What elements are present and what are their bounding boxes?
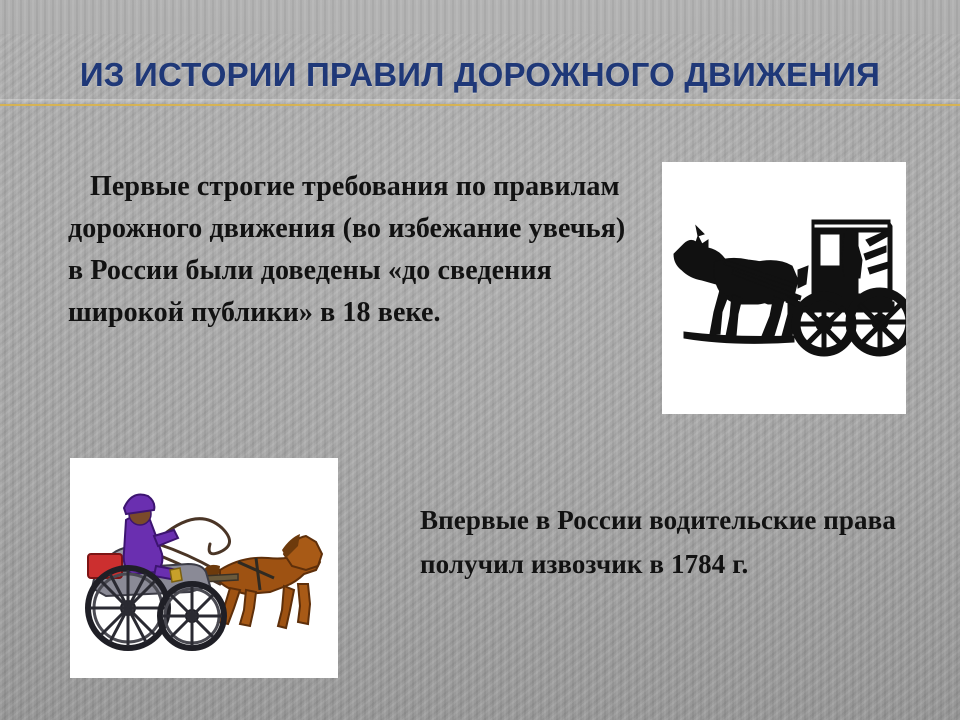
slide-title: ИЗ ИСТОРИИ ПРАВИЛ ДОРОЖНОГО ДВИЖЕНИЯ [60, 52, 900, 98]
horse-carriage-color-image [70, 458, 338, 678]
header-highlight-rule [0, 99, 960, 103]
slide-canvas: ИЗ ИСТОРИИ ПРАВИЛ ДОРОЖНОГО ДВИЖЕНИЯ Пер… [0, 0, 960, 720]
body-paragraph-first-license: Впервые в России водительские права полу… [420, 498, 920, 586]
header-accent-rule [0, 104, 960, 106]
horse-carriage-bw-image [662, 162, 906, 414]
horse-carriage-bw-graphic [662, 162, 906, 414]
body-paragraph-history: Первые строгие требования по правилам до… [68, 166, 643, 334]
horse-carriage-color-graphic [70, 458, 338, 678]
